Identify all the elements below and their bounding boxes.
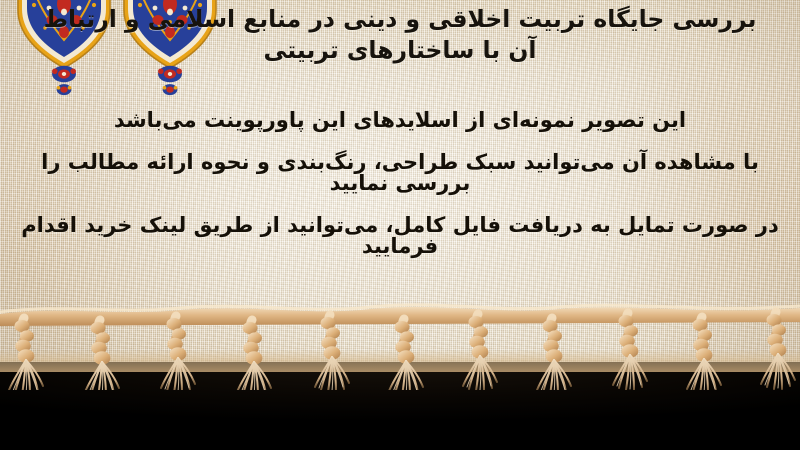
slide-body-line-2: با مشاهده آن می‌توانید سبک طراحی، رنگ‌بن… (14, 152, 786, 194)
presentation-slide: بررسی جایگاه تربیت اخلاقی و دینی در مناب… (0, 0, 800, 450)
slide-title-line-1: بررسی جایگاه تربیت اخلاقی و دینی در مناب… (8, 4, 792, 35)
slide-body-line-1: این تصویر نمونه‌ای از اسلایدهای این پاور… (14, 110, 786, 131)
slide-body: این تصویر نمونه‌ای از اسلایدهای این پاور… (0, 110, 800, 278)
bottom-black-band (0, 362, 800, 450)
slide-title: بررسی جایگاه تربیت اخلاقی و دینی در مناب… (0, 4, 800, 67)
slide-title-line-2: آن با ساختارهای تربیتی (8, 35, 792, 66)
slide-body-line-3: در صورت تمایل به دریافت فایل کامل، می‌تو… (14, 215, 786, 257)
